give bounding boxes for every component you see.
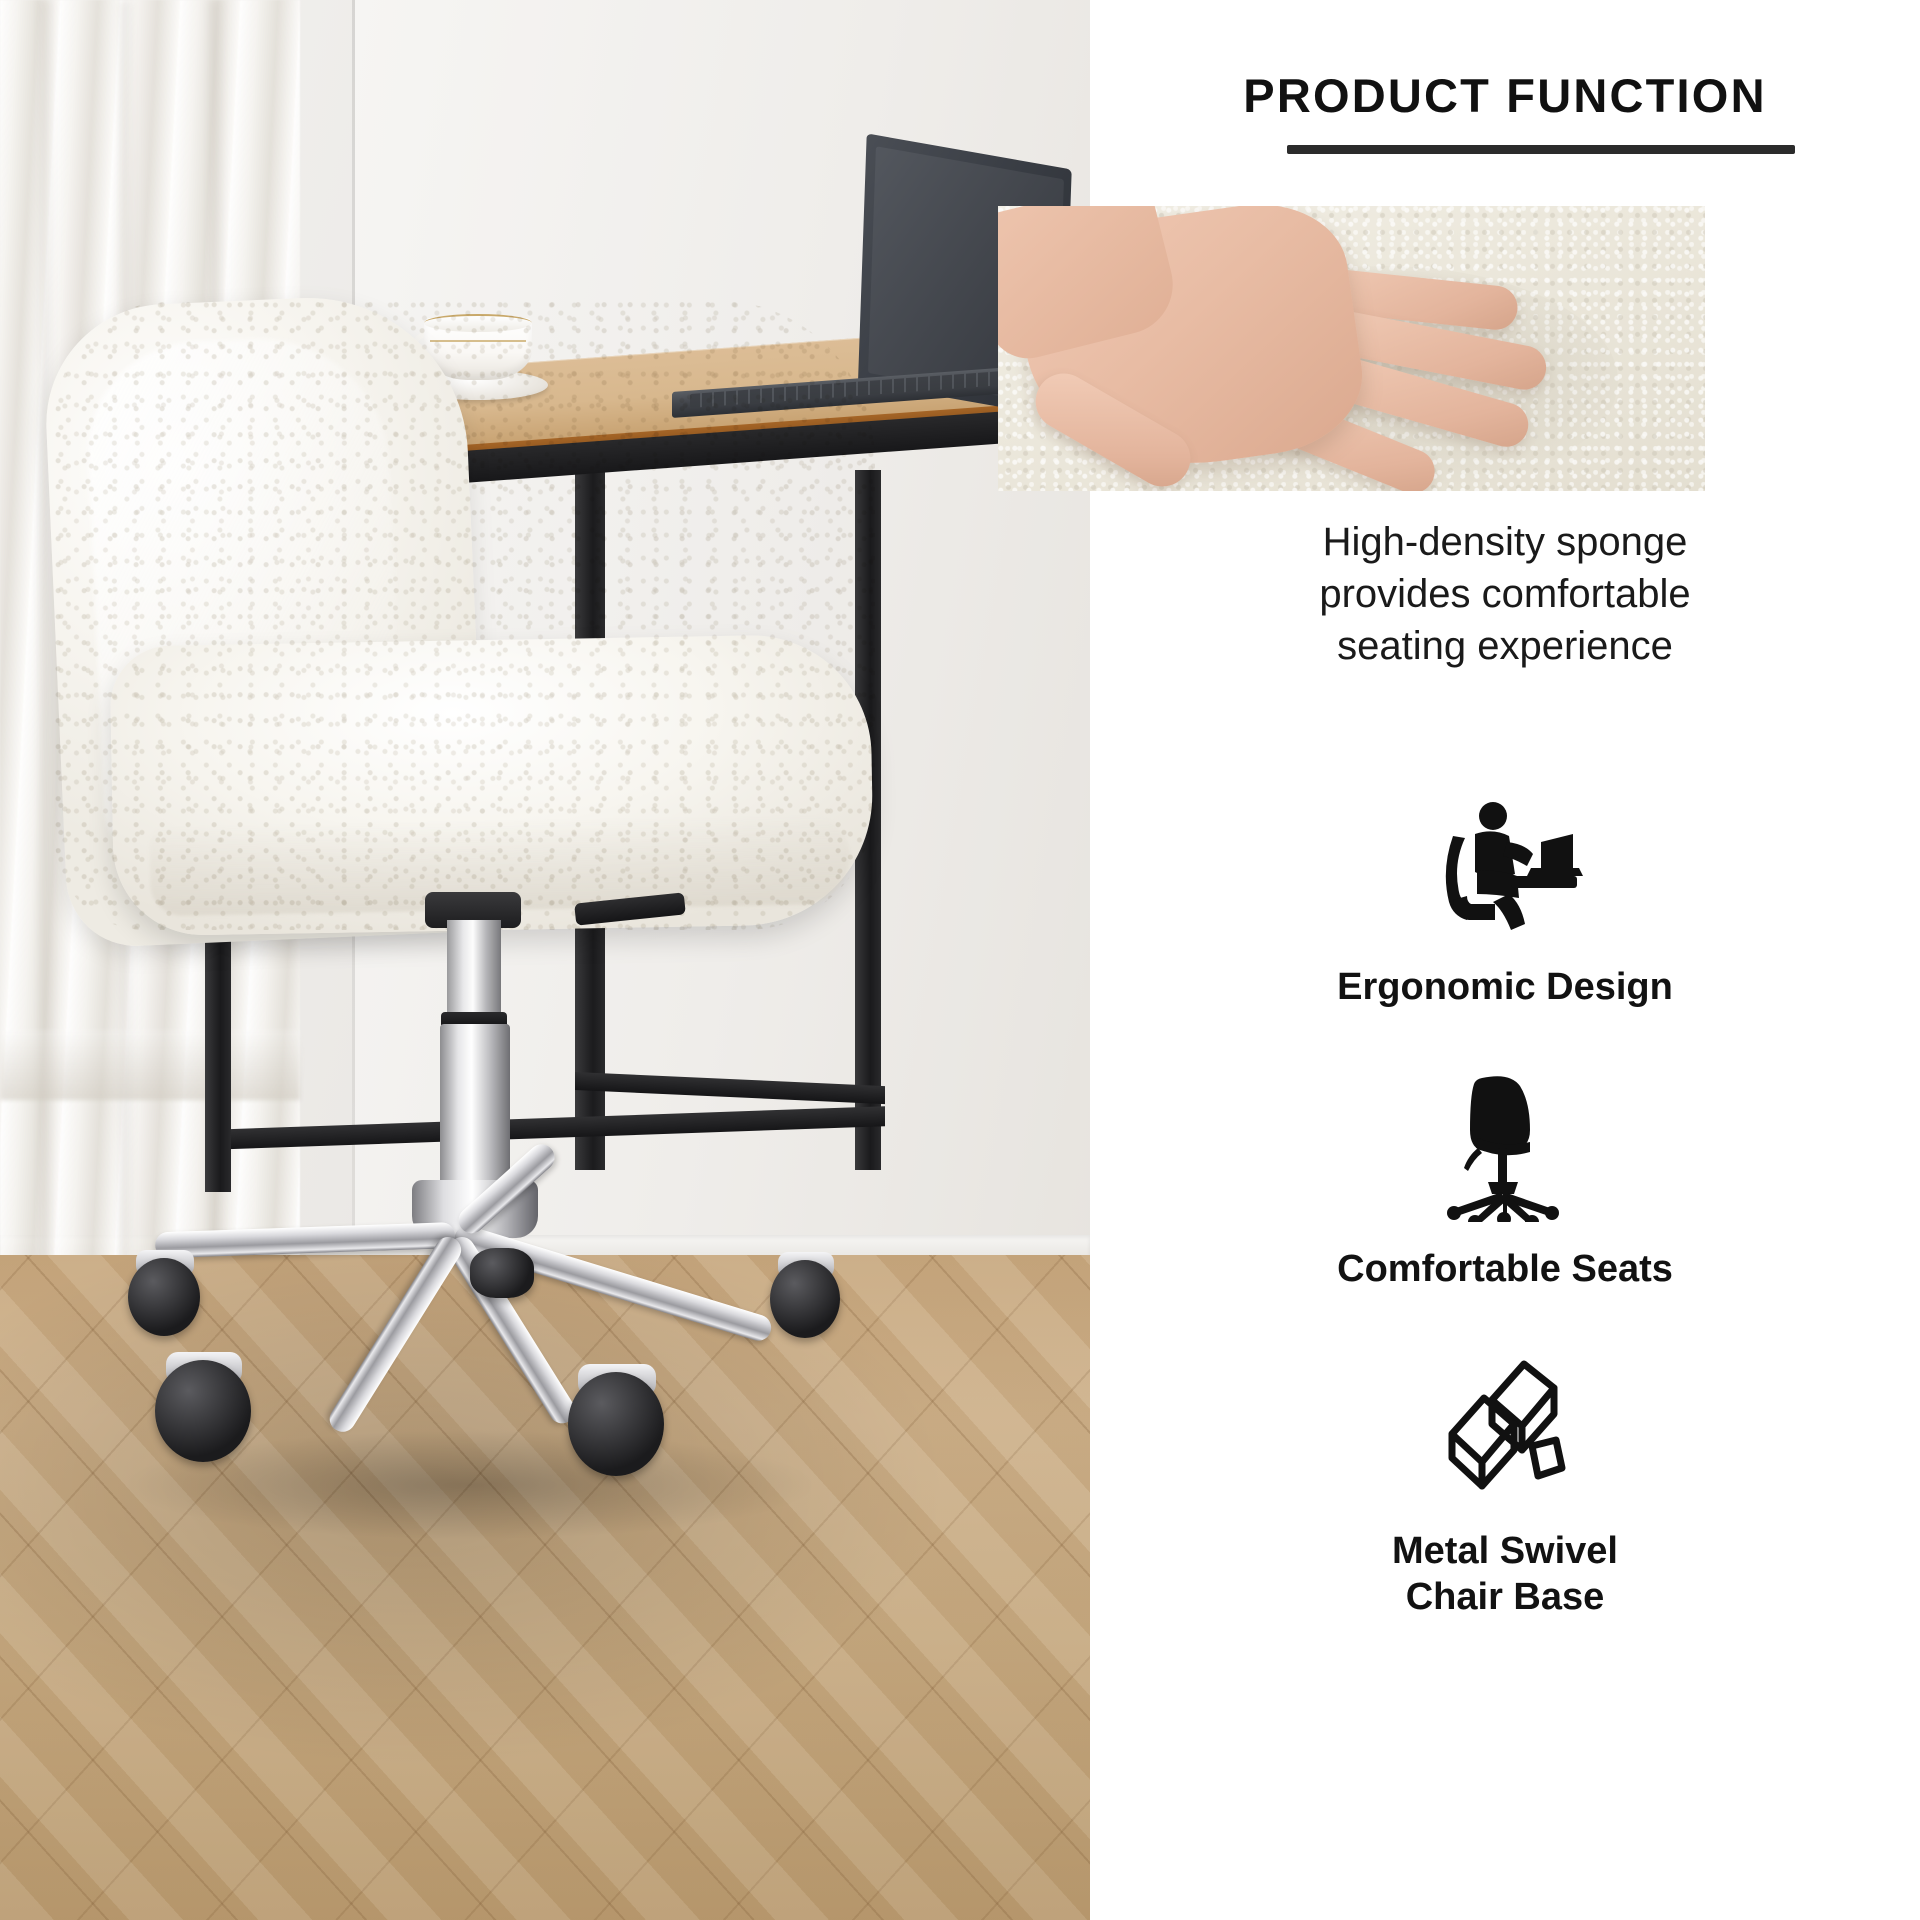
infographic-page: PRODUCT FUNCTION High-density sponge pro… xyxy=(0,0,1920,1920)
caption-line-1: High-density sponge xyxy=(1090,516,1920,568)
sponge-demo-photo xyxy=(998,206,1705,491)
feature-label: Metal Swivel Chair Base xyxy=(1090,1528,1920,1620)
feature-ergonomic-design: Ergonomic Design xyxy=(1090,800,1920,1010)
feature-label-line-1: Metal Swivel xyxy=(1090,1528,1920,1574)
feature-comfortable-seats: Comfortable Seats xyxy=(1090,1072,1920,1292)
floor-shadow xyxy=(0,1255,1090,1920)
caster-wheel xyxy=(128,1258,200,1336)
caster-wheel xyxy=(155,1360,251,1462)
feature-label: Ergonomic Design xyxy=(1090,964,1920,1010)
title-underline-rule xyxy=(1287,145,1795,154)
feature-label: Comfortable Seats xyxy=(1090,1246,1920,1292)
person-at-desk-icon xyxy=(1415,800,1595,940)
caption-line-2: provides comfortable xyxy=(1090,568,1920,620)
office-chair-icon xyxy=(1430,1072,1580,1222)
caster-wheel xyxy=(568,1372,664,1476)
page-title: PRODUCT FUNCTION xyxy=(1090,68,1920,123)
feature-label-line-2: Chair Base xyxy=(1090,1574,1920,1620)
chair-boucle-texture xyxy=(55,300,875,930)
caption-line-3: seating experience xyxy=(1090,620,1920,672)
gas-lift-upper xyxy=(447,920,501,1020)
caster-wheel xyxy=(470,1248,534,1298)
product-photo xyxy=(0,0,1090,1920)
caster-wheel xyxy=(770,1260,840,1338)
info-panel: PRODUCT FUNCTION High-density sponge pro… xyxy=(1090,0,1920,1920)
sponge-caption: High-density sponge provides comfortable… xyxy=(1090,516,1920,672)
feature-list: Ergonomic Design xyxy=(1090,800,1920,1620)
curtain-hem xyxy=(0,1030,300,1100)
feature-metal-swivel-base: Metal Swivel Chair Base xyxy=(1090,1354,1920,1620)
gas-lift-lower xyxy=(440,1024,510,1192)
metal-bars-icon xyxy=(1420,1354,1590,1504)
